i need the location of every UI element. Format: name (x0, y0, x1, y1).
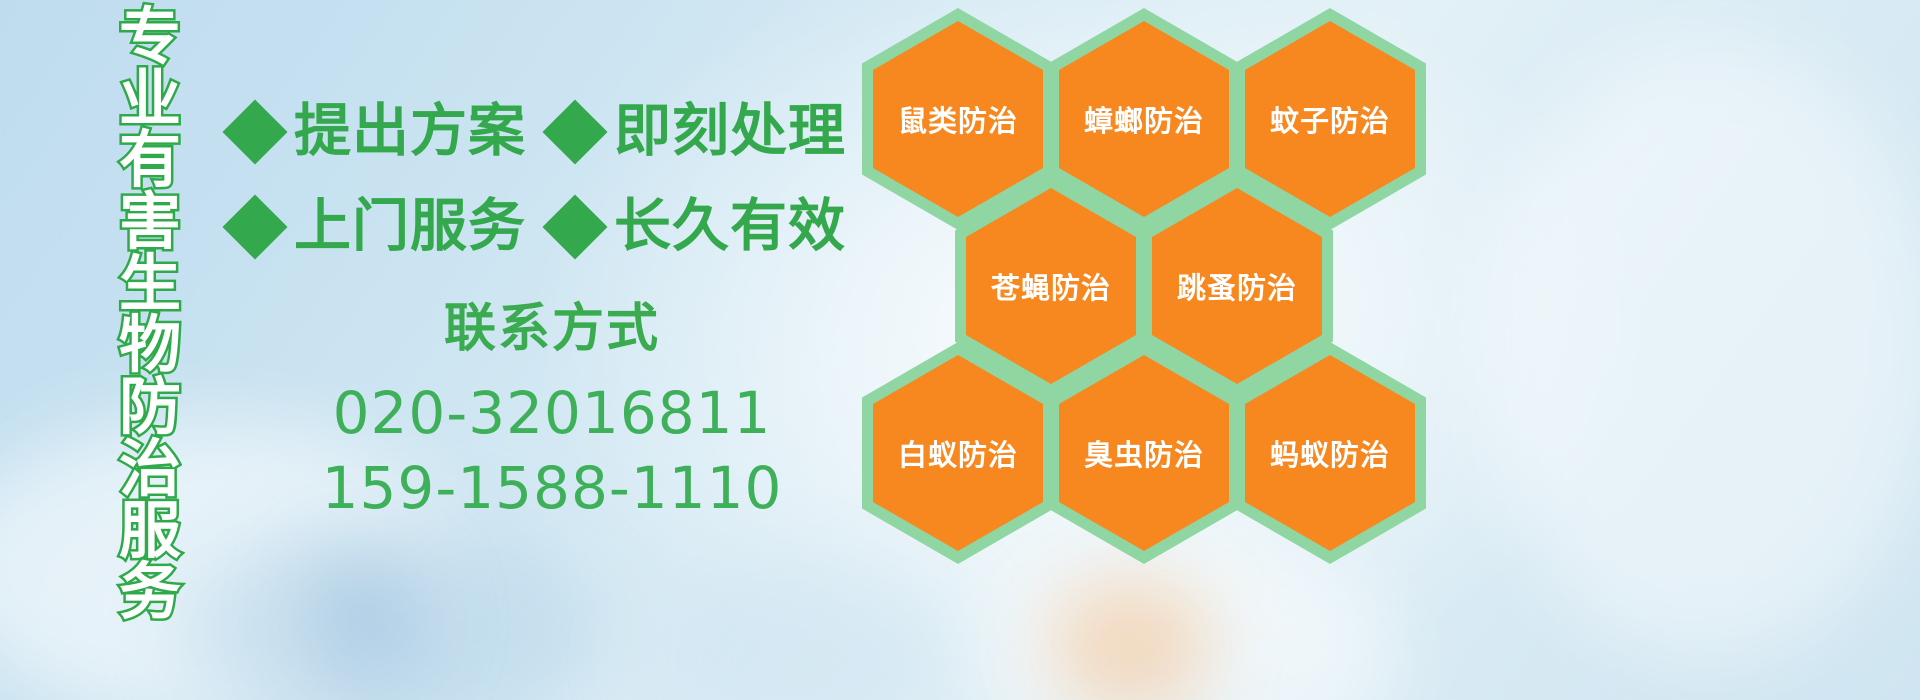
service-label: 蚂蚁防治 (1234, 342, 1426, 564)
contact-phone-mobile[interactable]: 159-1588-1110 (232, 451, 872, 526)
feature-label: 提出方案 (294, 103, 526, 160)
background-blob (980, 540, 1400, 700)
background-blob (1050, 580, 1210, 700)
background-blob (1480, 40, 1920, 660)
feature-list: 提出方案 即刻处理 上门服务 长久有效 (232, 84, 872, 274)
diamond-icon (542, 194, 607, 259)
contact-phone-landline[interactable]: 020-32016811 (232, 376, 872, 451)
feature-row: 提出方案 即刻处理 (232, 84, 872, 179)
service-hex-ant[interactable]: 蚂蚁防治 (1234, 342, 1426, 564)
contact-title: 联系方式 (232, 300, 872, 360)
feature-item: 即刻处理 (552, 103, 846, 160)
background-blob (180, 520, 600, 700)
service-label: 臭虫防治 (1048, 342, 1240, 564)
feature-item: 长久有效 (552, 198, 846, 255)
diamond-icon (222, 99, 287, 164)
feature-row: 上门服务 长久有效 (232, 179, 872, 274)
feature-item: 上门服务 (232, 198, 526, 255)
contact-block: 联系方式 020-32016811 159-1588-1110 (232, 300, 872, 527)
feature-label: 长久有效 (614, 198, 846, 255)
feature-label: 即刻处理 (614, 103, 846, 160)
diamond-icon (542, 99, 607, 164)
vertical-headline: 专业有害生物防治服务 (104, 6, 196, 623)
background-blob (300, 560, 430, 680)
service-label: 白蚁防治 (862, 342, 1054, 564)
background-blob (640, 560, 960, 700)
diamond-icon (222, 194, 287, 259)
feature-item: 提出方案 (232, 103, 526, 160)
feature-label: 上门服务 (294, 198, 526, 255)
service-hex-termite[interactable]: 白蚁防治 (862, 342, 1054, 564)
service-honeycomb: 鼠类防治 蟑螂防治 蚊子防治 苍蝇防治 跳蚤防治 白蚁防治 臭虫防治 蚂蚁防治 (862, 0, 1442, 560)
service-hex-bedbug[interactable]: 臭虫防治 (1048, 342, 1240, 564)
